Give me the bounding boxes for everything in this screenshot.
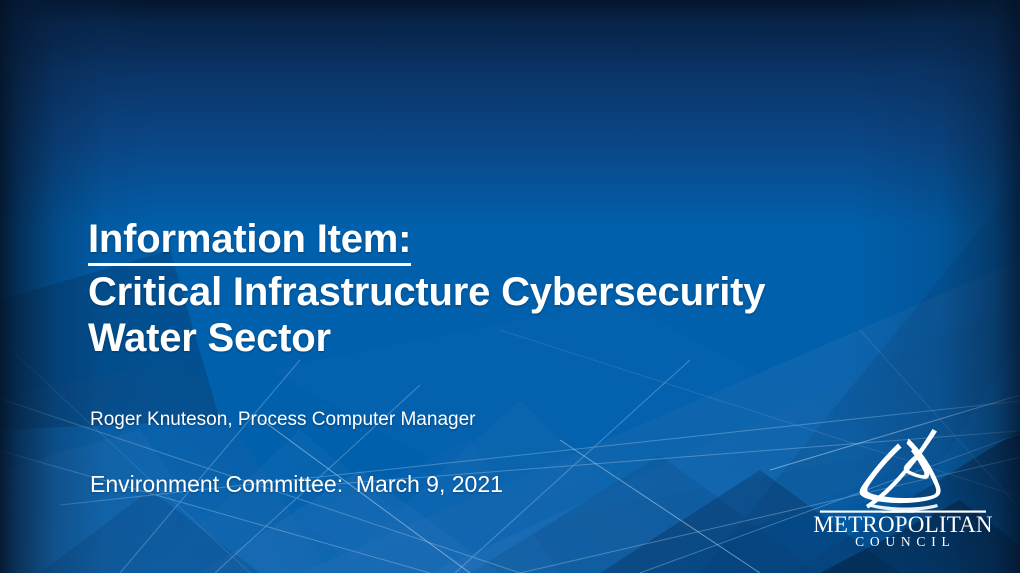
metropolitan-council-wordmark: METROPOLITAN C O U N C I L bbox=[814, 509, 992, 549]
title-slide: Information Item: Critical Infrastructur… bbox=[0, 0, 1020, 573]
slide-content: Information Item: Critical Infrastructur… bbox=[88, 0, 888, 573]
metropolitan-council-logo: METROPOLITAN C O U N C I L bbox=[814, 429, 992, 551]
metropolitan-council-triangle-icon bbox=[848, 429, 960, 513]
meeting-and-date: Environment Committee: March 9, 2021 bbox=[90, 470, 503, 498]
slide-title-block: Information Item: Critical Infrastructur… bbox=[88, 216, 878, 361]
title-line-3: Water Sector bbox=[88, 315, 878, 361]
wordmark-council: C O U N C I L bbox=[855, 534, 951, 549]
title-line-1: Information Item: bbox=[88, 216, 411, 266]
title-line-2: Critical Infrastructure Cybersecurity bbox=[88, 269, 878, 315]
presenter-byline: Roger Knuteson, Process Computer Manager bbox=[90, 408, 475, 432]
